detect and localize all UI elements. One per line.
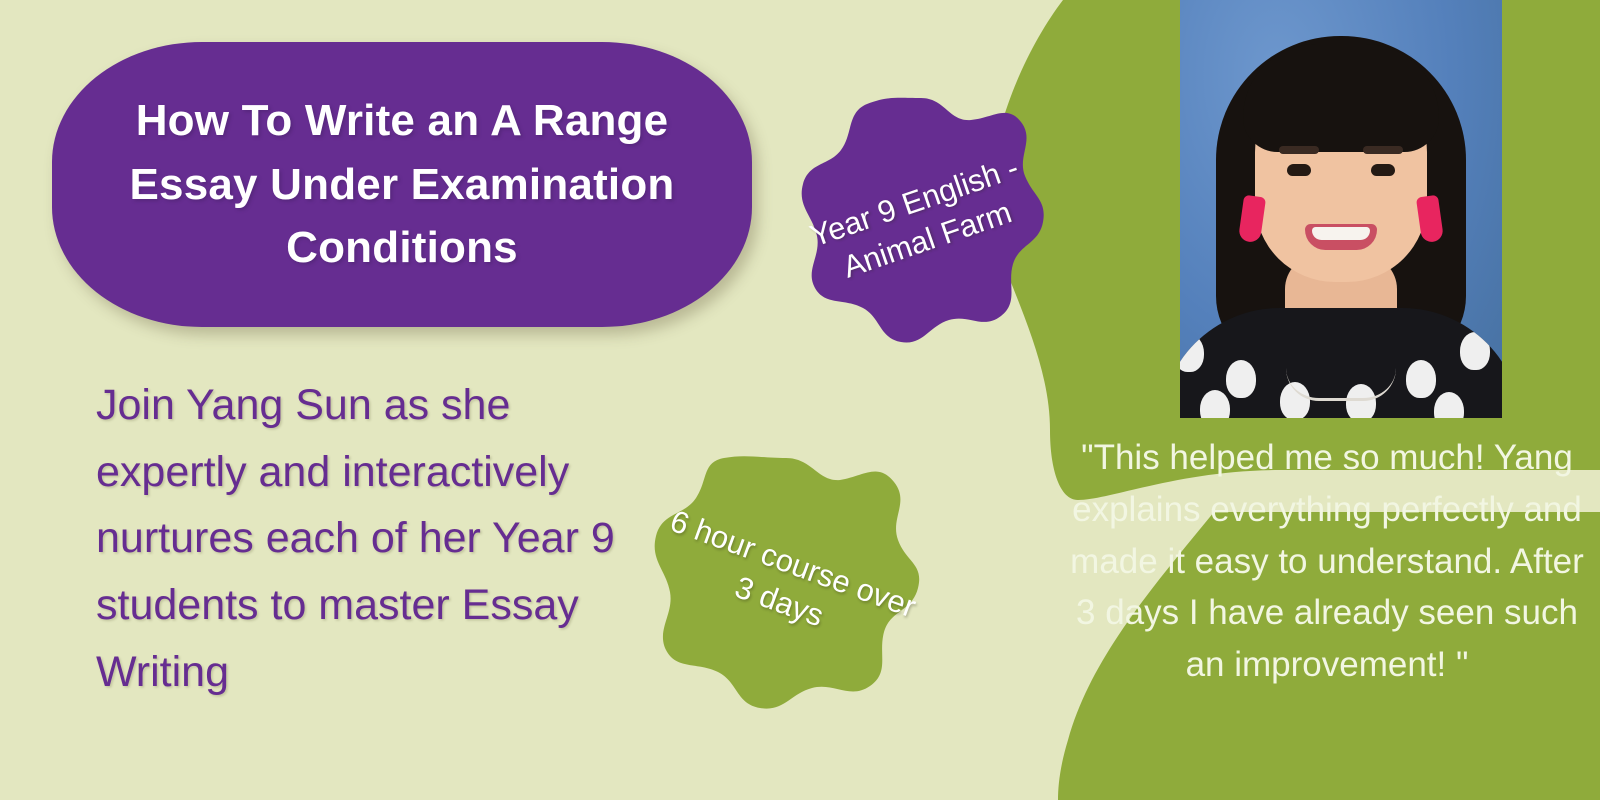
- badge-duration: 6 hour course over 3 days: [648, 452, 924, 714]
- portrait-necklace: [1286, 368, 1396, 401]
- page-title: How To Write an A Range Essay Under Exam…: [52, 89, 752, 280]
- promo-banner: How To Write an A Range Essay Under Exam…: [0, 0, 1600, 800]
- portrait-eyebrow-right: [1363, 146, 1403, 154]
- testimonial-quote: "This helped me so much! Yang explains e…: [1062, 432, 1592, 691]
- portrait-eye-left: [1287, 164, 1311, 176]
- badge-subject: Year 9 English - Animal Farm: [795, 92, 1047, 350]
- portrait-eyebrow-left: [1279, 146, 1319, 154]
- blurb-text: Join Yang Sun as she expertly and intera…: [96, 372, 656, 705]
- portrait-eye-right: [1371, 164, 1395, 176]
- headline-pill: How To Write an A Range Essay Under Exam…: [52, 42, 752, 327]
- portrait-top-pattern: [1180, 308, 1502, 418]
- portrait-hair-front: [1243, 44, 1439, 152]
- presenter-portrait: [1180, 0, 1502, 418]
- portrait-teeth: [1312, 227, 1370, 240]
